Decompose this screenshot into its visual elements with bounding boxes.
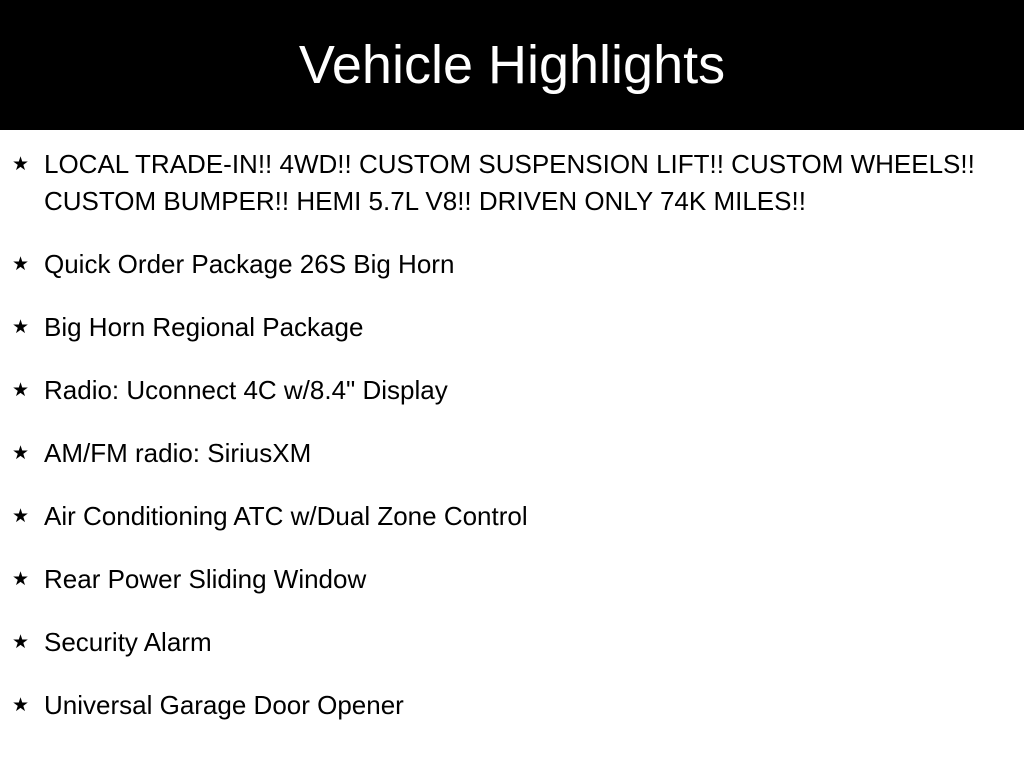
list-item-label: Security Alarm	[44, 624, 978, 661]
list-item-label: Quick Order Package 26S Big Horn	[44, 246, 978, 283]
page-title: Vehicle Highlights	[299, 38, 725, 92]
list-item-label: Big Horn Regional Package	[44, 309, 978, 346]
list-item: ★ Air Conditioning ATC w/Dual Zone Contr…	[0, 498, 1024, 535]
vehicle-highlights-page: Vehicle Highlights ★ LOCAL TRADE-IN!! 4W…	[0, 0, 1024, 768]
list-item: ★ Radio: Uconnect 4C w/8.4" Display	[0, 372, 1024, 409]
list-item: ★ Universal Garage Door Opener	[0, 687, 1024, 724]
star-bullet-icon: ★	[12, 435, 44, 472]
list-item-label: Universal Garage Door Opener	[44, 687, 978, 724]
list-item: ★ LOCAL TRADE-IN!! 4WD!! CUSTOM SUSPENSI…	[0, 146, 1024, 220]
list-item-label: LOCAL TRADE-IN!! 4WD!! CUSTOM SUSPENSION…	[44, 146, 978, 220]
star-bullet-icon: ★	[12, 309, 44, 346]
vehicle-highlights-list: ★ LOCAL TRADE-IN!! 4WD!! CUSTOM SUSPENSI…	[0, 130, 1024, 724]
list-item: ★ Big Horn Regional Package	[0, 309, 1024, 346]
star-bullet-icon: ★	[12, 498, 44, 535]
list-item: ★ Quick Order Package 26S Big Horn	[0, 246, 1024, 283]
list-item-label: Rear Power Sliding Window	[44, 561, 978, 598]
star-bullet-icon: ★	[12, 246, 44, 283]
star-bullet-icon: ★	[12, 146, 44, 183]
list-item: ★ Rear Power Sliding Window	[0, 561, 1024, 598]
star-bullet-icon: ★	[12, 372, 44, 409]
list-item: ★ AM/FM radio: SiriusXM	[0, 435, 1024, 472]
star-bullet-icon: ★	[12, 624, 44, 661]
list-item-label: Air Conditioning ATC w/Dual Zone Control	[44, 498, 978, 535]
star-bullet-icon: ★	[12, 687, 44, 724]
page-header-banner: Vehicle Highlights	[0, 0, 1024, 130]
list-item-label: AM/FM radio: SiriusXM	[44, 435, 978, 472]
list-item-label: Radio: Uconnect 4C w/8.4" Display	[44, 372, 978, 409]
star-bullet-icon: ★	[12, 561, 44, 598]
list-item: ★ Security Alarm	[0, 624, 1024, 661]
